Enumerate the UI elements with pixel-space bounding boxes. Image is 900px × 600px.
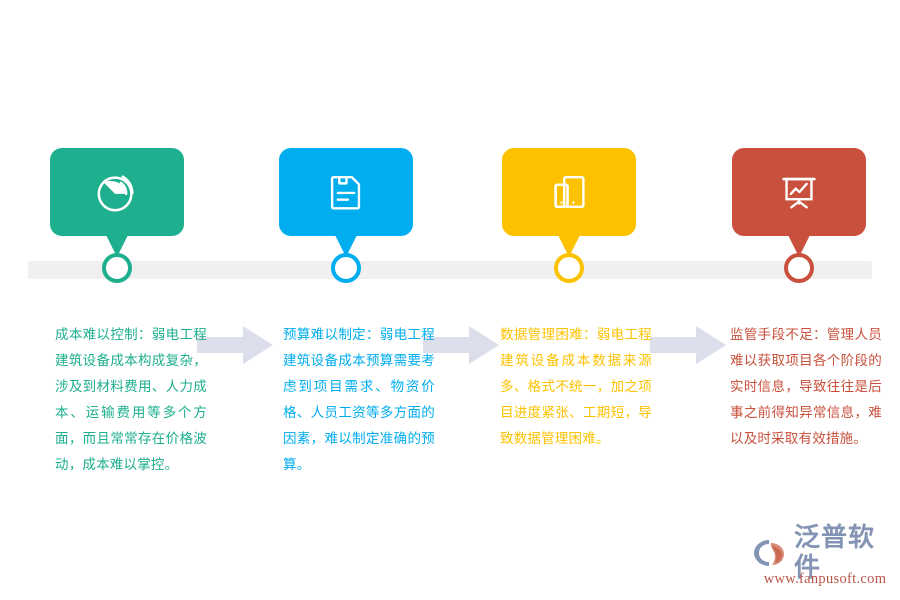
step-description-supervision: 监管手段不足：管理人员难以获取项目各个阶段的实时信息，导致往往是后事之前得知异常… [730, 322, 882, 452]
document-file-icon [323, 169, 369, 215]
step-budget-planning[interactable] [279, 148, 413, 298]
timeline-dot[interactable] [102, 253, 132, 283]
logo-row: 泛普软件 [752, 536, 898, 570]
step-data-management[interactable] [502, 148, 636, 298]
infographic-canvas: 成本难以控制：弱电工程建筑设备成本构成复杂，涉及到材料费用、人力成本、运输费用等… [0, 0, 900, 600]
timeline-dot[interactable] [554, 253, 584, 283]
step-supervision[interactable] [732, 148, 866, 298]
step-card[interactable] [279, 148, 413, 236]
arrow-right-icon-1 [197, 326, 273, 364]
timeline-dot[interactable] [331, 253, 361, 283]
arrow-right-icon-3 [650, 326, 726, 364]
logo-website-url: www.fanpusoft.com [752, 571, 898, 588]
step-card[interactable] [732, 148, 866, 236]
timeline-dot[interactable] [784, 253, 814, 283]
step-description-cost-control: 成本难以控制：弱电工程建筑设备成本构成复杂，涉及到材料费用、人力成本、运输费用等… [55, 322, 207, 478]
step-card[interactable] [502, 148, 636, 236]
cost-analytics-icon [94, 169, 140, 215]
step-cost-control[interactable] [50, 148, 184, 298]
fanpu-logo-icon [752, 538, 790, 568]
step-description-data-management: 数据管理困难：弱电工程建筑设备成本数据来源多、格式不统一，加之项目进度紧张、工期… [500, 322, 652, 452]
brand-logo[interactable]: 泛普软件 www.fanpusoft.com [752, 536, 898, 590]
presentation-chart-icon [776, 169, 822, 215]
step-description-budget-planning: 预算难以制定：弱电工程建筑设备成本预算需要考虑到项目需求、物资价格、人员工资等多… [283, 322, 435, 478]
step-card[interactable] [50, 148, 184, 236]
steps-row [0, 148, 900, 298]
devices-icon [546, 169, 592, 215]
